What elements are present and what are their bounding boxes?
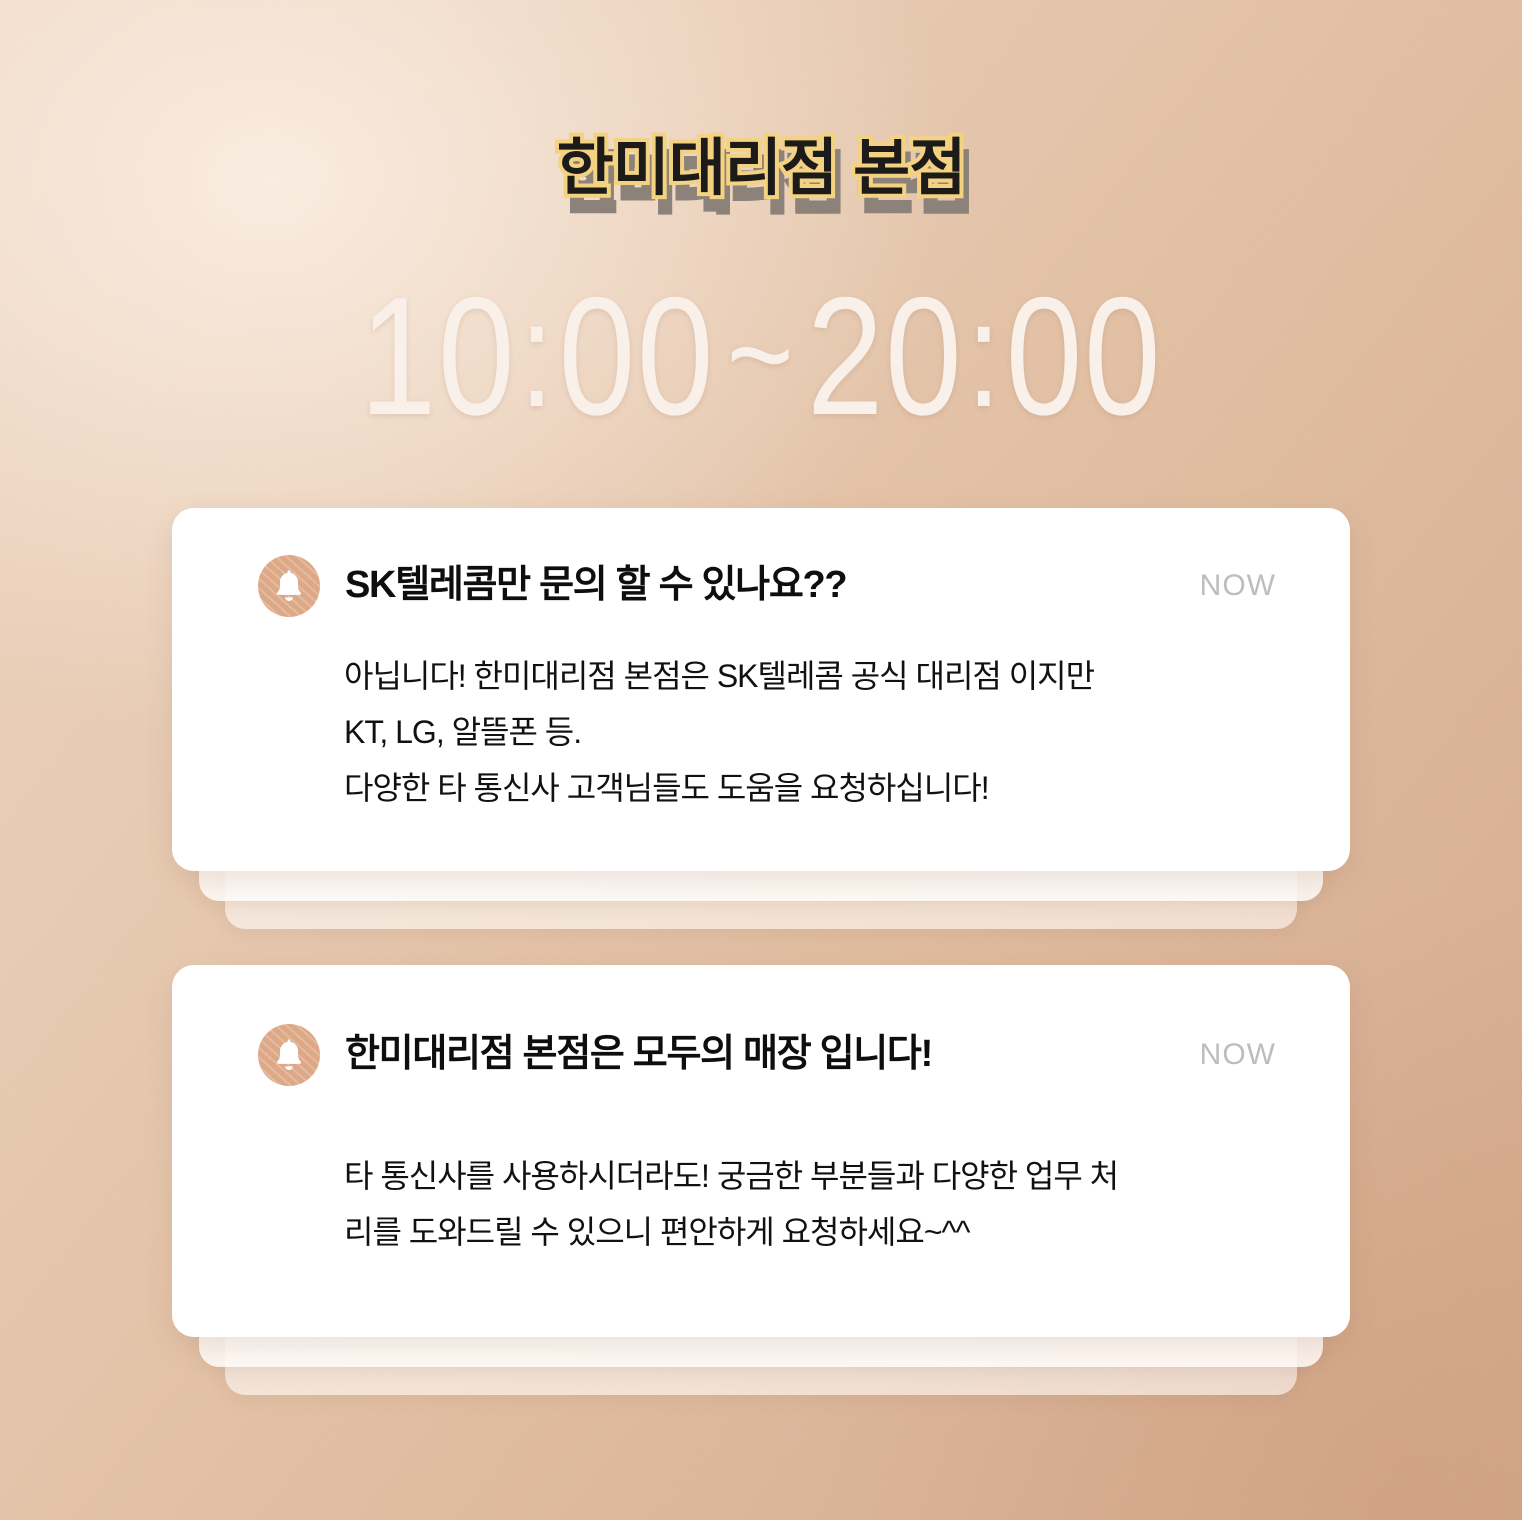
notification-header: 한미대리점 본점은 모두의 매장 입니다! NOW	[172, 965, 1350, 1086]
notification-body-line: 리를 도와드릴 수 있으니 편안하게 요청하세요~^^	[344, 1204, 1290, 1260]
page-title-text: 한미대리점 본점	[0, 133, 1522, 204]
close-minute: 00	[1006, 262, 1163, 450]
promo-poster: 한미대리점 본점 한미대리점 본점 10:00~20:00 SK텔레콤만 문의 …	[0, 0, 1522, 1520]
notification-body-line: KT, LG, 알뜰폰 등.	[344, 704, 1290, 760]
hours-range-mark: ~	[715, 275, 807, 432]
bell-icon	[258, 1024, 320, 1086]
notification-timestamp: NOW	[1200, 571, 1276, 601]
notification-card[interactable]: 한미대리점 본점은 모두의 매장 입니다! NOW 타 통신사를 사용하시더라도…	[172, 965, 1350, 1337]
bell-icon	[258, 555, 320, 617]
notification-header: SK텔레콤만 문의 할 수 있나요?? NOW	[172, 508, 1350, 617]
notification-body-line: 다양한 타 통신사 고객님들도 도움을 요청하십니다!	[344, 760, 1290, 816]
business-hours: 10:00~20:00	[137, 272, 1385, 440]
notification-card[interactable]: SK텔레콤만 문의 할 수 있나요?? NOW 아닙니다! 한미대리점 본점은 …	[172, 508, 1350, 871]
notification-timestamp: NOW	[1200, 1040, 1276, 1070]
notification-title: 한미대리점 본점은 모두의 매장 입니다!	[345, 1032, 1200, 1078]
open-minute: 00	[559, 262, 716, 450]
page-title: 한미대리점 본점 한미대리점 본점	[0, 133, 1522, 243]
notification-card-stack: SK텔레콤만 문의 할 수 있나요?? NOW 아닙니다! 한미대리점 본점은 …	[172, 508, 1350, 871]
notification-body-line: 아닙니다! 한미대리점 본점은 SK텔레콤 공식 대리점 이지만	[344, 648, 1290, 704]
notification-body: 아닙니다! 한미대리점 본점은 SK텔레콤 공식 대리점 이지만 KT, LG,…	[172, 617, 1350, 816]
notification-title: SK텔레콤만 문의 할 수 있나요??	[345, 563, 1200, 609]
notification-body-line: 타 통신사를 사용하시더라도! 궁금한 부분들과 다양한 업무 처	[344, 1148, 1290, 1204]
close-hour: 20	[807, 262, 964, 450]
close-time-separator: :	[963, 270, 1005, 438]
open-time-separator: :	[516, 270, 558, 438]
notification-body: 타 통신사를 사용하시더라도! 궁금한 부분들과 다양한 업무 처 리를 도와드…	[172, 1086, 1350, 1260]
notification-card-stack: 한미대리점 본점은 모두의 매장 입니다! NOW 타 통신사를 사용하시더라도…	[172, 965, 1350, 1337]
open-hour: 10	[360, 262, 517, 450]
